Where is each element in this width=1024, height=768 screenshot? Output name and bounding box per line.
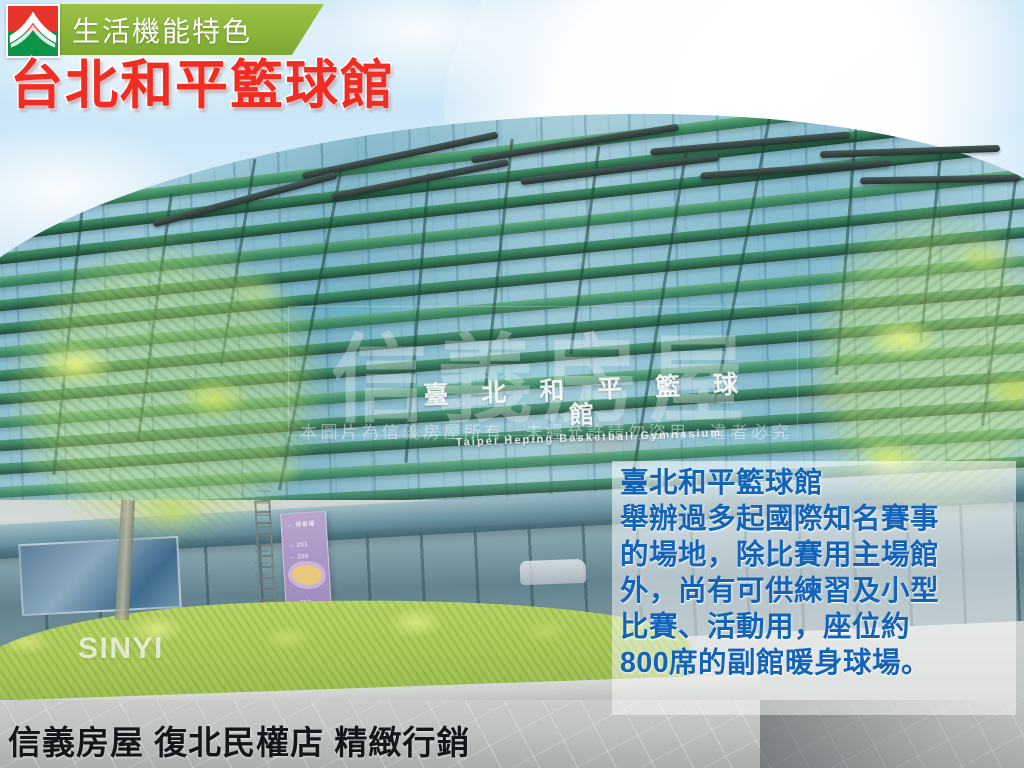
sinyi-house-logo-svg	[8, 6, 58, 56]
property-description-panel: 臺北和平籃球館 舉辦過多起國際知名賽事 的場地，除比賽用主場館 外，尚有可供練習…	[612, 461, 1016, 715]
feature-ribbon-label: 生活機能特色	[72, 10, 252, 50]
property-listing-photo-card: ← 停車場 → 201 → 200 → 218 → 210 臺 北 和 平 籃 …	[0, 0, 1024, 768]
agency-footer-label: 信義房屋 復北民權店 精緻行銷	[8, 716, 470, 764]
wayfinding-row: → 200	[289, 552, 324, 562]
feature-ribbon-banner: 生活機能特色	[56, 4, 324, 55]
page-title: 台北和平籃球館	[10, 58, 395, 114]
sinyi-house-logo-icon	[6, 4, 60, 58]
wayfinding-map-blob-icon	[291, 564, 322, 586]
property-description-text: 臺北和平籃球館 舉辦過多起國際知名賽事 的場地，除比賽用主場館 外，尚有可供練習…	[620, 465, 1010, 681]
wayfinding-row: → 201	[288, 540, 323, 550]
parked-car	[520, 559, 587, 585]
